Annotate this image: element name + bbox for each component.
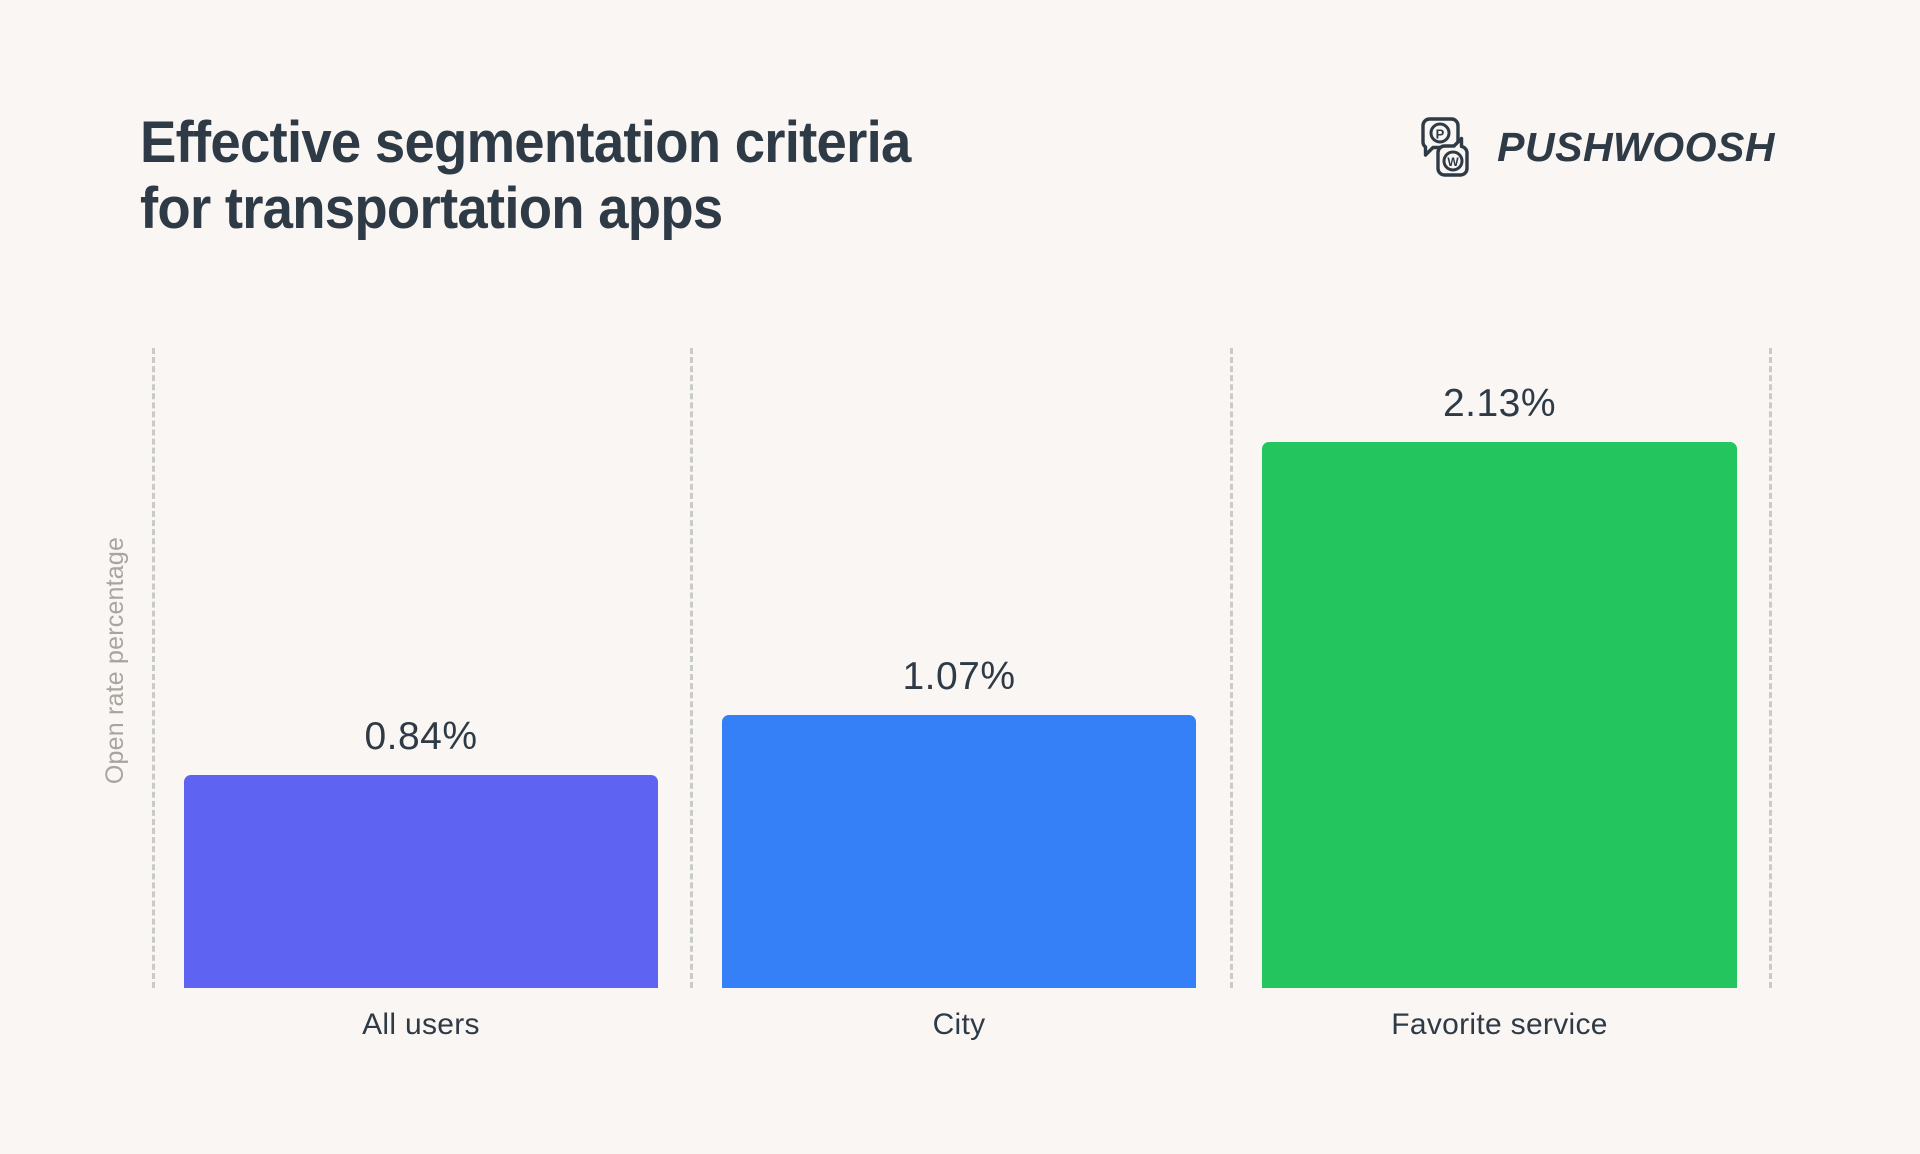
plot-area: 0.84% 1.07% 2.13% All users City Favorit… (152, 348, 1769, 988)
divider-line-3 (1230, 348, 1233, 988)
bar-chart: Open rate percentage 0.84% 1.07% 2.13% A… (0, 0, 1920, 1154)
bar-value-all-users: 0.84% (184, 715, 658, 759)
category-label-city: City (722, 1008, 1196, 1042)
y-axis-label-text: Open rate percentage (102, 536, 131, 783)
category-label-favorite-service: Favorite service (1262, 1008, 1737, 1042)
bar-value-city: 1.07% (722, 655, 1196, 699)
divider-line-2 (690, 348, 693, 988)
bar-value-favorite-service: 2.13% (1262, 382, 1737, 426)
divider-line-1 (152, 348, 155, 988)
bar-city[interactable] (722, 715, 1196, 988)
category-label-all-users: All users (184, 1008, 658, 1042)
y-axis-label: Open rate percentage (98, 500, 134, 820)
bar-favorite-service[interactable] (1262, 442, 1737, 988)
divider-line-4 (1769, 348, 1772, 988)
bar-all-users[interactable] (184, 775, 658, 988)
